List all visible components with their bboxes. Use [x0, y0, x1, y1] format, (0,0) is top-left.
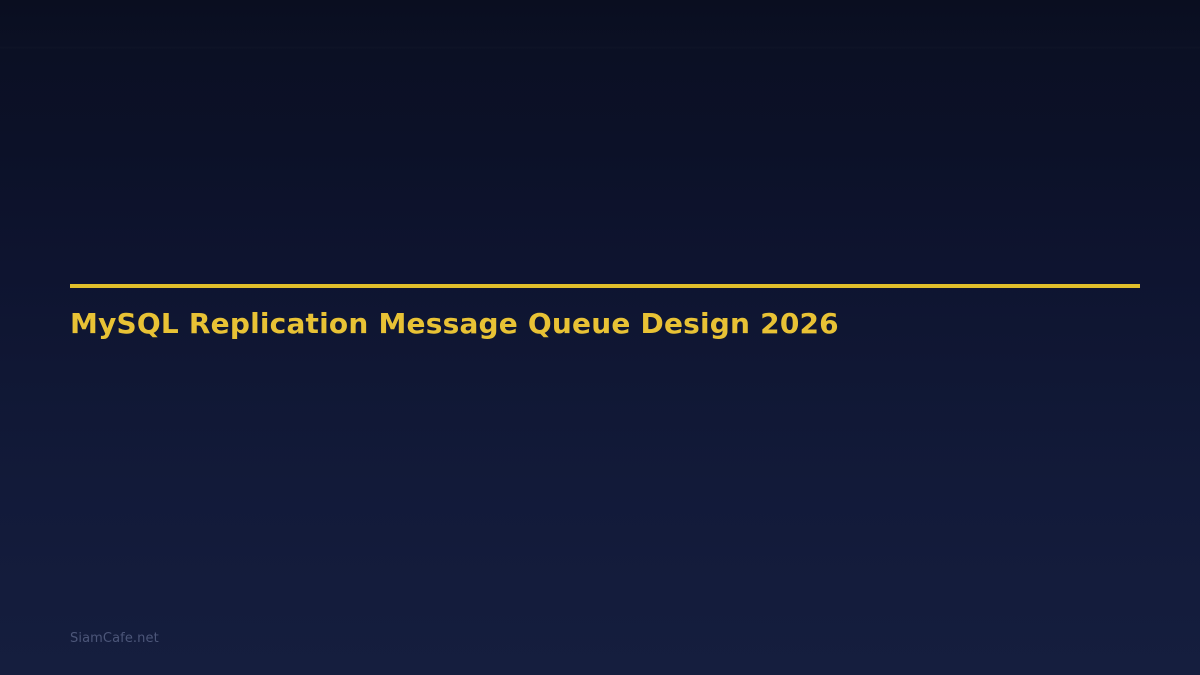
- title-block: MySQL Replication Message Queue Design 2…: [70, 284, 1140, 288]
- page-title: MySQL Replication Message Queue Design 2…: [70, 307, 839, 341]
- footer-brand: SiamCafe.net: [70, 630, 159, 648]
- title-slide: MySQL Replication Message Queue Design 2…: [0, 0, 1200, 675]
- accent-rule: [70, 284, 1140, 288]
